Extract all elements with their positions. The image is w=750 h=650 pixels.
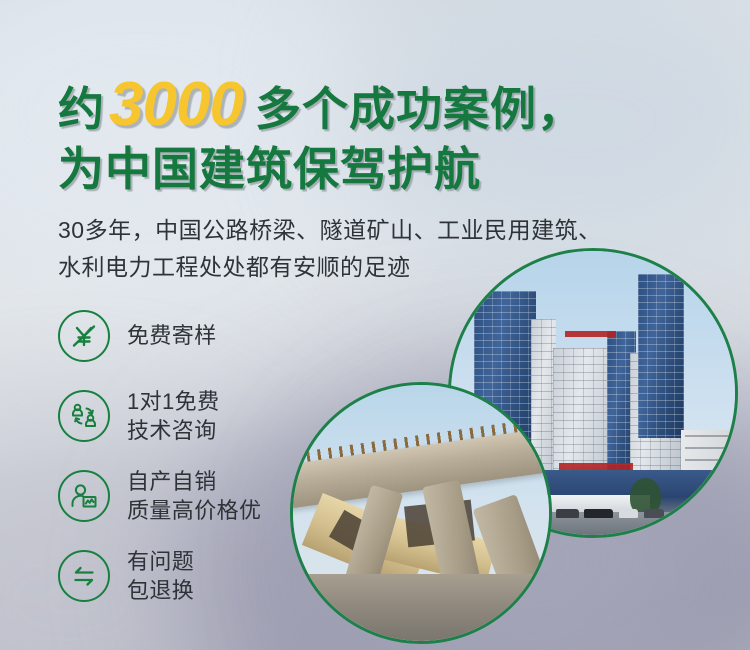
feature-item-free-sample[interactable]: 免费寄样 [58, 296, 318, 376]
car [619, 509, 639, 518]
car [644, 509, 664, 518]
headline-suffix: 多个成功案例， [251, 86, 584, 132]
subtitle: 30多年，中国公路桥梁、隧道矿山、工业民用建筑、 水利电力工程处处都有安顺的足迹 [58, 212, 602, 287]
ground [293, 574, 549, 641]
one-to-one-consult-icon [58, 390, 110, 442]
exchange-return-icon [58, 550, 110, 602]
no-fee-yuan-icon [58, 310, 110, 362]
feature-label: 1对1免费 技术咨询 [127, 387, 219, 445]
subtitle-line-1: 30多年，中国公路桥梁、隧道矿山、工业民用建筑、 [58, 212, 602, 249]
feature-item-one-to-one-consult[interactable]: 1对1免费 技术咨询 [58, 376, 318, 456]
facade-red-sign [559, 463, 633, 470]
feature-label: 免费寄样 [127, 321, 217, 350]
headline-line-1: 约 3000 多个成功案例， [58, 74, 584, 136]
headline-prefix: 约 [58, 86, 105, 132]
feature-list: 免费寄样 1对1免费 技术咨询 [58, 296, 318, 616]
feature-item-self-production[interactable]: 自产自销 质量高价格优 [58, 456, 318, 536]
bridge-photo-scene [293, 385, 549, 641]
car [556, 509, 579, 518]
bridge-photo [290, 382, 552, 644]
headline: 约 3000 多个成功案例， 为中国建筑保驾护航 [58, 74, 584, 193]
headline-line-2: 为中国建筑保驾护航 [58, 145, 584, 193]
car [584, 509, 612, 518]
promo-banner: 约 3000 多个成功案例， 为中国建筑保驾护航 30多年，中国公路桥梁、隧道矿… [0, 0, 750, 650]
feature-label: 自产自销 质量高价格优 [127, 467, 261, 525]
subtitle-line-2: 水利电力工程处处都有安顺的足迹 [58, 249, 602, 286]
rooftop-red-sign [565, 331, 616, 338]
headline-number: 3000 [105, 74, 251, 136]
feature-item-return-exchange[interactable]: 有问题 包退换 [58, 536, 318, 616]
self-production-chart-icon [58, 470, 110, 522]
feature-label: 有问题 包退换 [127, 547, 194, 605]
tower-right-blue [638, 274, 683, 439]
